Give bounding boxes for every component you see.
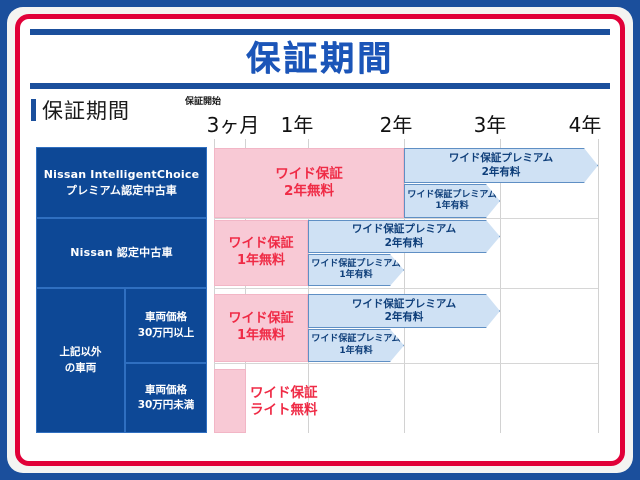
free-label-line2: 1年無料 xyxy=(214,328,308,345)
warranty-timeline-chart: 保証開始 3ヶ月 1年 2年 3年 4年 Nissan IntelligentC… xyxy=(22,21,618,459)
paid-label-line2: 1年有料 xyxy=(311,346,400,357)
bar-free-warranty-row2-label: ワイド保証 1年無料 xyxy=(214,236,308,269)
axis-tick-3months: 3ヶ月 xyxy=(207,109,260,138)
axis-tick-2year: 2年 xyxy=(380,109,413,138)
bar-premium-1year-paid-row1[interactable]: ワイド保証プレミアム 1年有料 xyxy=(404,184,500,218)
warranty-start-caption: 保証開始 xyxy=(185,94,221,107)
paid-label-line1: ワイド保証プレミアム xyxy=(352,298,456,311)
free-label-line2: 2年無料 xyxy=(214,183,404,200)
free-label-line2: 1年無料 xyxy=(214,253,308,270)
bar-free-warranty-row4-label: ワイド保証 ライト無料 xyxy=(250,385,370,420)
row-separator-2 xyxy=(214,288,598,289)
category-label-line2: プレミアム認定中古車 xyxy=(66,183,177,199)
category-label-line2: の車両 xyxy=(65,361,97,376)
bar-premium-1year-paid-row2[interactable]: ワイド保証プレミアム 1年有料 xyxy=(308,254,404,286)
axis-tick-1year: 1年 xyxy=(281,109,314,138)
category-label-line1: Nissan IntelligentChoice xyxy=(44,167,200,183)
paid-label-line1: ワイド保証プレミアム xyxy=(311,259,400,270)
category-certified-used-car[interactable]: Nissan 認定中古車 xyxy=(36,218,207,288)
price-label-line1: 車両価格 xyxy=(145,310,187,325)
bar-free-warranty-row4[interactable] xyxy=(214,369,246,433)
poster-content: 保証期間 保証期間 保証開始 3ヶ月 1年 2年 3年 4年 xyxy=(22,21,618,459)
bar-free-warranty-row3-label: ワイド保証 1年無料 xyxy=(214,311,308,344)
paid-label-line2: 1年有料 xyxy=(311,270,400,281)
row-separator-3 xyxy=(214,363,598,364)
price-label-line1: 車両価格 xyxy=(145,383,187,398)
category-premium-certified-used-car[interactable]: Nissan IntelligentChoice プレミアム認定中古車 xyxy=(36,147,207,218)
price-label-line2: 30万円以上 xyxy=(138,326,195,341)
paid-label-line1: ワイド保証プレミアム xyxy=(407,190,496,201)
price-label-line2: 30万円未満 xyxy=(138,398,195,413)
bar-premium-2year-paid-row1[interactable]: ワイド保証プレミアム 2年有料 xyxy=(404,148,598,183)
category-label-line1: 上記以外 xyxy=(60,345,102,360)
free-label-line1: ワイド保証 xyxy=(250,385,370,402)
paid-label-line2: 2年有料 xyxy=(352,311,456,324)
category-label-line1: Nissan 認定中古車 xyxy=(70,245,173,261)
bar-premium-1year-paid-row3[interactable]: ワイド保証プレミアム 1年有料 xyxy=(308,329,404,362)
gridline-2year xyxy=(404,139,405,433)
free-label-line2: ライト無料 xyxy=(250,402,370,419)
bar-premium-2year-paid-row3[interactable]: ワイド保証プレミアム 2年有料 xyxy=(308,294,500,328)
bar-free-warranty-row1-label: ワイド保証 2年無料 xyxy=(214,166,404,201)
bar-premium-2year-paid-row2[interactable]: ワイド保証プレミアム 2年有料 xyxy=(308,220,500,253)
row-separator-1 xyxy=(214,218,598,219)
axis-tick-4year: 4年 xyxy=(569,109,602,138)
paid-label-line2: 2年有料 xyxy=(352,237,456,250)
paid-label-line2: 1年有料 xyxy=(407,201,496,212)
free-label-line1: ワイド保証 xyxy=(214,236,308,253)
paid-label-line1: ワイド保証プレミアム xyxy=(311,334,400,345)
paid-label-line1: ワイド保証プレミアム xyxy=(449,152,553,165)
free-label-line1: ワイド保証 xyxy=(214,166,404,183)
free-label-line1: ワイド保証 xyxy=(214,311,308,328)
category-price-over-300k[interactable]: 車両価格 30万円以上 xyxy=(125,288,207,363)
gridline-4year xyxy=(598,139,599,433)
category-price-under-300k[interactable]: 車両価格 30万円未満 xyxy=(125,363,207,433)
category-other-vehicles[interactable]: 上記以外 の車両 xyxy=(36,288,125,433)
paid-label-line1: ワイド保証プレミアム xyxy=(352,223,456,236)
axis-tick-3year: 3年 xyxy=(474,109,507,138)
gridline-3year xyxy=(500,139,501,433)
paid-label-line2: 2年有料 xyxy=(449,166,553,179)
poster-frame-outer: 保証期間 保証期間 保証開始 3ヶ月 1年 2年 3年 4年 xyxy=(0,0,640,480)
